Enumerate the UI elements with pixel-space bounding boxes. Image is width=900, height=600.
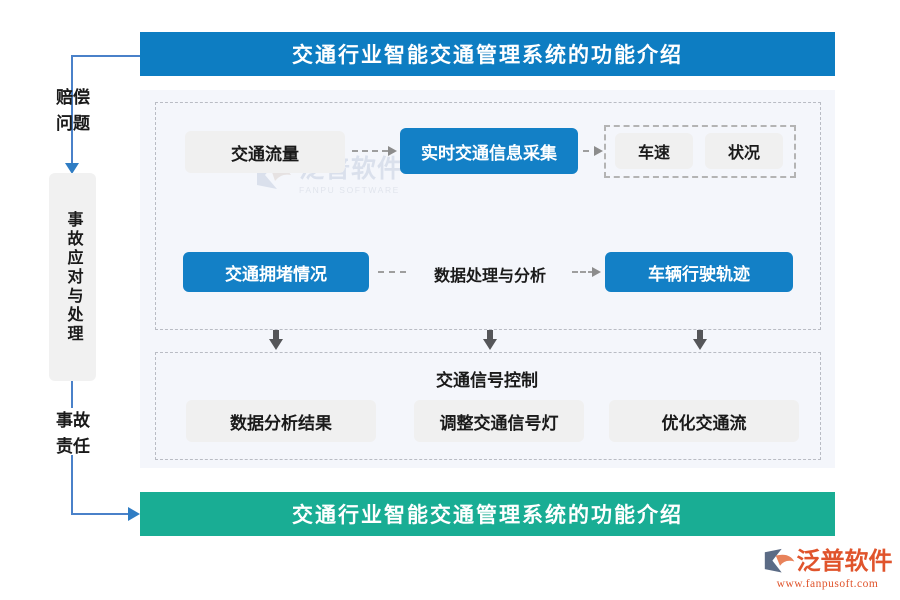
- node-optimize-traffic-flow[interactable]: 优化交通流: [609, 400, 799, 442]
- sidebar-label-compensation-line1: 赔偿: [33, 85, 113, 111]
- arrow-right-icon-2: [594, 146, 603, 156]
- arrow-down-icon-3: [695, 330, 705, 350]
- node-realtime-collection[interactable]: 实时交通信息采集: [400, 128, 578, 174]
- arrow-right-icon-1: [388, 146, 397, 156]
- brand-logo-icon: [763, 548, 797, 575]
- node-adjust-signal-light[interactable]: 调整交通信号灯: [414, 400, 584, 442]
- dashed-connector-3: [378, 271, 406, 273]
- arrow-right-icon-4: [592, 267, 601, 277]
- arrow-down-icon-2: [485, 330, 495, 350]
- brand-logo-url: www.fanpusoft.com: [777, 578, 879, 590]
- sidebar-label-compensation-line2: 问题: [33, 111, 113, 137]
- section-title-signal-control: 交通信号控制: [155, 366, 819, 391]
- dashed-connector-1: [352, 150, 388, 152]
- banner-bottom-title: 交通行业智能交通管理系统的功能介绍: [140, 492, 835, 536]
- diagram-canvas: 交通行业智能交通管理系统的功能介绍 交通行业智能交通管理系统的功能介绍 赔偿 问…: [0, 0, 900, 600]
- arrow-right-icon-bottom-banner: [128, 507, 140, 521]
- node-vehicle-trajectory[interactable]: 车辆行驶轨迹: [605, 252, 793, 292]
- connector-bottom-vertical: [71, 455, 73, 515]
- node-traffic-congestion[interactable]: 交通拥堵情况: [183, 252, 369, 292]
- brand-logo: 泛普软件 www.fanpusoft.com: [760, 548, 895, 594]
- node-analysis-result[interactable]: 数据分析结果: [186, 400, 376, 442]
- arrow-down-icon-1: [271, 330, 281, 350]
- connector-top-horizontal: [71, 55, 141, 57]
- sidebar-label-accident-liability-line1: 事故: [33, 408, 113, 434]
- sidebar-label-accident-liability-line2: 责任: [33, 434, 113, 460]
- banner-top-title: 交通行业智能交通管理系统的功能介绍: [140, 32, 835, 76]
- sidebar-box-accident-handling-label: 事故应对与处理: [60, 211, 86, 344]
- connector-bottom-horizontal: [71, 513, 131, 515]
- node-vehicle-speed[interactable]: 车速: [615, 133, 693, 169]
- label-data-processing: 数据处理与分析: [410, 262, 570, 286]
- sidebar-label-compensation: 赔偿 问题: [33, 85, 113, 137]
- brand-logo-cn-text: 泛普软件: [797, 550, 893, 574]
- node-road-status[interactable]: 状况: [705, 133, 783, 169]
- sidebar-box-accident-handling[interactable]: 事故应对与处理: [49, 173, 96, 381]
- connector-lower-vertical: [71, 381, 73, 408]
- node-traffic-flow[interactable]: 交通流量: [185, 131, 345, 173]
- dashed-connector-4: [572, 271, 594, 273]
- sidebar-label-accident-liability: 事故 责任: [33, 408, 113, 460]
